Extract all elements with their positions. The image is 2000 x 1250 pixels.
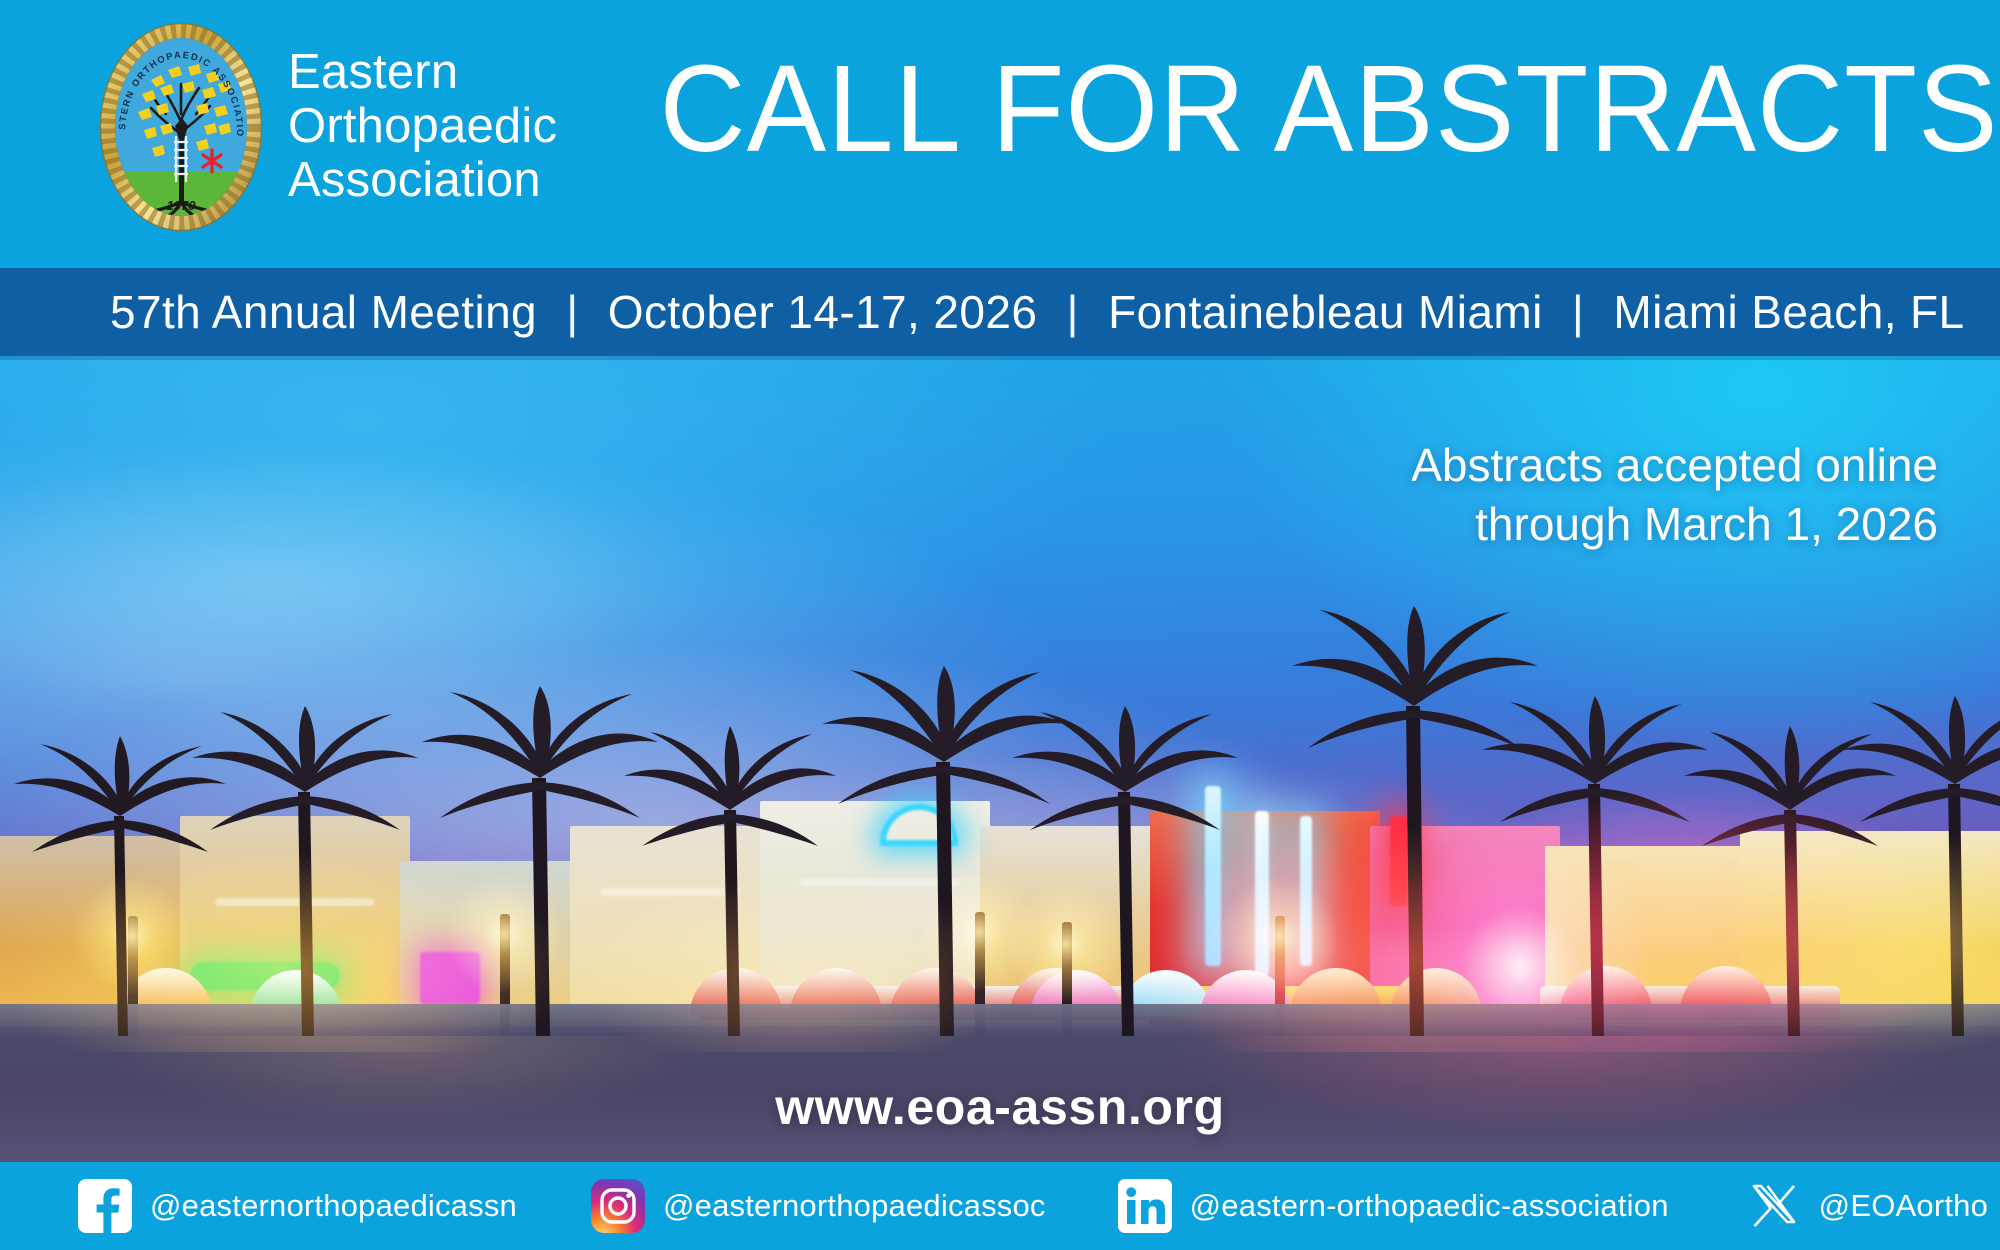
band-separator-1: | <box>550 286 594 338</box>
miami-beach-photo: Abstracts accepted online through March … <box>0 356 2000 1162</box>
social-media-footer: @easternorthopaedicassn @eas <box>0 1162 2000 1250</box>
poster-header: EASTERN ORTHOPAEDIC ASSOCIATION 1970 Eas… <box>0 0 2000 268</box>
band-separator-2: | <box>1051 286 1095 338</box>
meeting-number: 57th Annual Meeting <box>110 286 537 338</box>
band-separator-3: | <box>1556 286 1600 338</box>
organization-name: Eastern Orthopaedic Association <box>288 46 557 208</box>
eoa-seal-logo: EASTERN ORTHOPAEDIC ASSOCIATION 1970 <box>96 22 266 232</box>
x-twitter-icon[interactable] <box>1747 1179 1801 1233</box>
palm-tree <box>1010 706 1240 1036</box>
social-linkedin[interactable]: @eastern-orthopaedic-association <box>1118 1179 1669 1233</box>
social-instagram[interactable]: @easternorthopaedicassoc <box>591 1179 1046 1233</box>
neon-tower-light <box>1255 811 1269 976</box>
meeting-info-band: 57th Annual Meeting | October 14-17, 202… <box>0 268 2000 356</box>
abstract-deadline-text: Abstracts accepted online through March … <box>1411 436 1938 554</box>
palm-tree <box>1480 696 1710 1036</box>
social-x-twitter[interactable]: @EOAortho <box>1747 1179 1988 1233</box>
meeting-location: Miami Beach, FL <box>1613 286 1964 338</box>
page-title: CALL FOR ABSTRACTS <box>660 48 1921 171</box>
palm-tree <box>190 706 420 1036</box>
svg-text:1970: 1970 <box>167 198 197 213</box>
meeting-venue: Fontainebleau Miami <box>1108 286 1543 338</box>
brand-lockup: EASTERN ORTHOPAEDIC ASSOCIATION 1970 Eas… <box>96 22 557 232</box>
facebook-handle[interactable]: @easternorthopaedicassn <box>150 1188 517 1224</box>
photo-top-edge <box>0 356 2000 360</box>
linkedin-icon[interactable] <box>1118 1179 1172 1233</box>
x-handle[interactable]: @EOAortho <box>1819 1188 1988 1224</box>
social-facebook[interactable]: @easternorthopaedicassn <box>78 1179 517 1233</box>
facebook-icon[interactable] <box>78 1179 132 1233</box>
instagram-icon[interactable] <box>591 1179 645 1233</box>
palm-tree <box>1840 696 2000 1036</box>
meeting-dates: October 14-17, 2026 <box>608 286 1038 338</box>
palm-tree <box>620 726 840 1036</box>
meeting-info-text: 57th Annual Meeting | October 14-17, 202… <box>110 285 1965 339</box>
instagram-handle[interactable]: @easternorthopaedicassoc <box>663 1188 1046 1224</box>
website-url[interactable]: www.eoa-assn.org <box>0 1078 2000 1136</box>
linkedin-handle[interactable]: @eastern-orthopaedic-association <box>1190 1188 1669 1224</box>
call-for-abstracts-poster: EASTERN ORTHOPAEDIC ASSOCIATION 1970 Eas… <box>0 0 2000 1250</box>
